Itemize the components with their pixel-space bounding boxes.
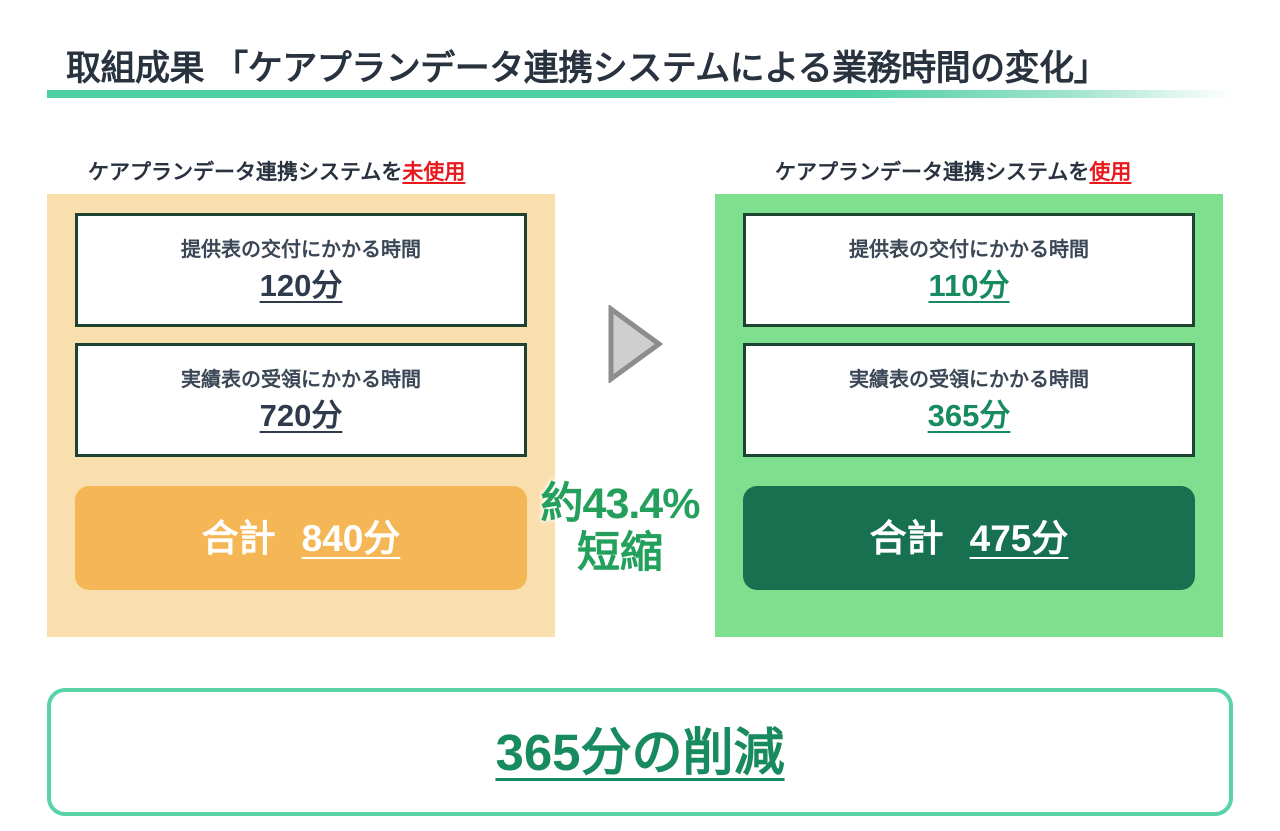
reduction-percent: 約43.4% — [505, 483, 735, 526]
panel-with-system: 提供表の交付にかかる時間 110分 実績表の受領にかかる時間 365分 合計 4… — [715, 194, 1223, 637]
metric-value: 365分 — [928, 400, 1011, 431]
panel-without-system: 提供表の交付にかかる時間 120分 実績表の受領にかかる時間 720分 合計 8… — [47, 194, 555, 637]
left-caption-highlight: 未使用 — [402, 161, 465, 184]
right-panel-caption: ケアプランデータ連携システムを使用 — [775, 156, 1131, 186]
metric-value: 720分 — [260, 400, 343, 431]
metric-box-right-1: 提供表の交付にかかる時間 110分 — [743, 213, 1195, 327]
triangle-right-icon — [606, 305, 664, 383]
metric-value: 120分 — [260, 270, 343, 301]
reduction-callout: 約43.4% 短縮 — [505, 483, 735, 575]
right-caption-prefix: ケアプランデータ連携システムを — [775, 161, 1089, 184]
total-label: 合計 — [870, 520, 944, 557]
right-caption-highlight: 使用 — [1089, 161, 1131, 184]
total-value: 840分 — [302, 520, 401, 557]
title-underline-rule — [47, 90, 1233, 98]
metric-label: 実績表の受領にかかる時間 — [849, 369, 1089, 391]
metric-box-right-2: 実績表の受領にかかる時間 365分 — [743, 343, 1195, 457]
metric-value: 110分 — [928, 270, 1009, 301]
metric-box-left-2: 実績表の受領にかかる時間 720分 — [75, 343, 527, 457]
page-title: 取組成果 「ケアプランデータ連携システムによる業務時間の変化」 — [66, 40, 1108, 91]
total-label: 合計 — [202, 520, 276, 557]
total-bar-without-system: 合計 840分 — [75, 486, 527, 590]
left-panel-caption: ケアプランデータ連携システムを未使用 — [88, 156, 465, 186]
metric-label: 実績表の受領にかかる時間 — [181, 369, 421, 391]
total-bar-with-system: 合計 475分 — [743, 486, 1195, 590]
summary-banner-text: 365分の削減 — [495, 727, 784, 778]
metric-label: 提供表の交付にかかる時間 — [849, 239, 1089, 261]
left-caption-prefix: ケアプランデータ連携システムを — [88, 161, 402, 184]
summary-banner: 365分の削減 — [47, 688, 1233, 816]
metric-box-left-1: 提供表の交付にかかる時間 120分 — [75, 213, 527, 327]
metric-label: 提供表の交付にかかる時間 — [181, 239, 421, 261]
total-value: 475分 — [970, 520, 1069, 557]
reduction-word: 短縮 — [505, 532, 735, 575]
